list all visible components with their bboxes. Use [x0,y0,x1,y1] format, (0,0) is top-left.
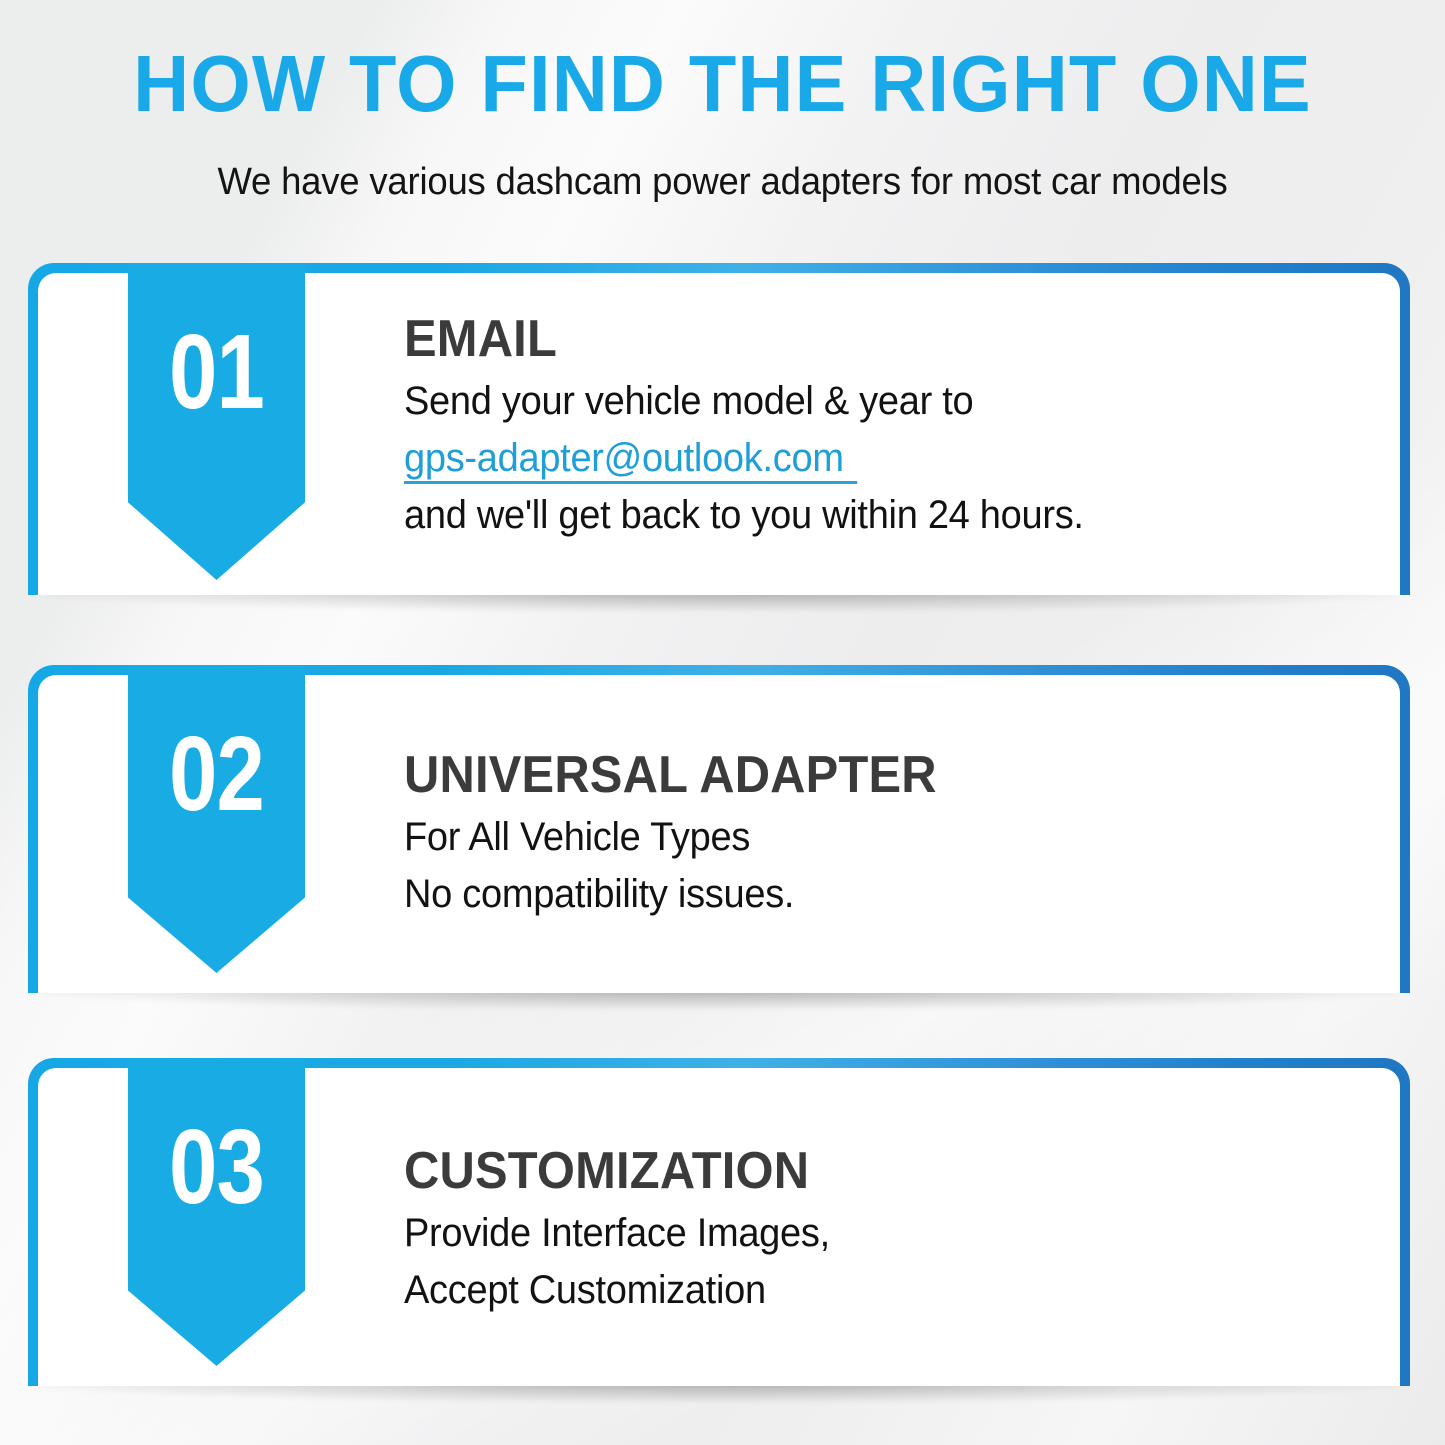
infographic-page: HOW TO FIND THE RIGHT ONE We have variou… [0,0,1445,1445]
step-text-line-2: No compatibility issues. [404,866,1322,923]
card-content: UNIVERSAL ADAPTER For All Vehicle Types … [404,747,1370,923]
step-number-label: 01 [144,319,289,425]
card-content: CUSTOMIZATION Provide Interface Images, … [404,1143,1370,1319]
step-text-line-3: and we'll get back to you within 24 hour… [404,487,1322,544]
step-heading: UNIVERSAL ADAPTER [404,747,1312,803]
email-link[interactable]: gps-adapter@outlook.com [404,435,857,484]
step-card-02: 02 UNIVERSAL ADAPTER For All Vehicle Typ… [28,665,1410,993]
step-card-03: 03 CUSTOMIZATION Provide Interface Image… [28,1058,1410,1386]
step-number-label: 02 [144,721,289,827]
step-heading: EMAIL [404,311,1312,367]
step-card-01: 01 EMAIL Send your vehicle model & year … [28,263,1410,595]
page-subtitle: We have various dashcam power adapters f… [29,160,1416,206]
page-title: HOW TO FIND THE RIGHT ONE [22,44,1424,124]
step-text-line-1: Provide Interface Images, [404,1205,1322,1262]
step-text-line-2: Accept Customization [404,1262,1322,1319]
step-email-row: gps-adapter@outlook.com [404,430,1322,487]
step-number-label: 03 [144,1114,289,1220]
card-content: EMAIL Send your vehicle model & year to … [404,311,1370,544]
step-text-line-1: Send your vehicle model & year to [404,373,1322,430]
step-text-line-1: For All Vehicle Types [404,809,1322,866]
step-heading: CUSTOMIZATION [404,1143,1312,1199]
